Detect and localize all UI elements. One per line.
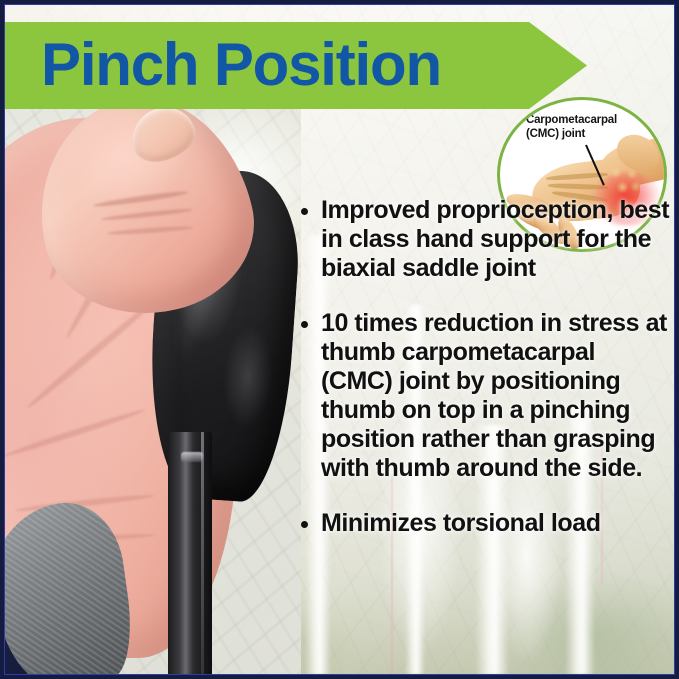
bullet-dot-icon (301, 208, 308, 215)
benefits-list: Improved proprioception, best in class h… (297, 196, 671, 538)
list-item: Minimizes torsional load (297, 509, 671, 538)
bullet-dot-icon (301, 321, 308, 328)
pole-shaft (168, 432, 212, 674)
carpal-bones (604, 160, 646, 200)
list-item-text: Minimizes torsional load (321, 509, 601, 537)
pole-clamp (181, 452, 203, 462)
headline-banner: Pinch Position (5, 22, 587, 109)
cmc-label-line-2: (CMC) joint (526, 128, 585, 140)
cmc-joint-label: Carpometacarpal (CMC) joint (526, 113, 617, 142)
list-item-text: 10 times reduction in stress at thumb ca… (321, 309, 667, 482)
list-item-text: Improved proprioception, best in class h… (321, 196, 669, 282)
list-item: Improved proprioception, best in class h… (297, 196, 671, 283)
bullet-dot-icon (301, 521, 308, 528)
page-title: Pinch Position (41, 34, 441, 94)
cmc-label-line-1: Carpometacarpal (526, 114, 617, 126)
product-photo (5, 100, 301, 674)
list-item: 10 times reduction in stress at thumb ca… (297, 309, 671, 483)
pole-shaft-highlight (201, 432, 204, 674)
poster-root: Pinch Position Carpometacarpal (CMC) joi… (0, 0, 679, 679)
